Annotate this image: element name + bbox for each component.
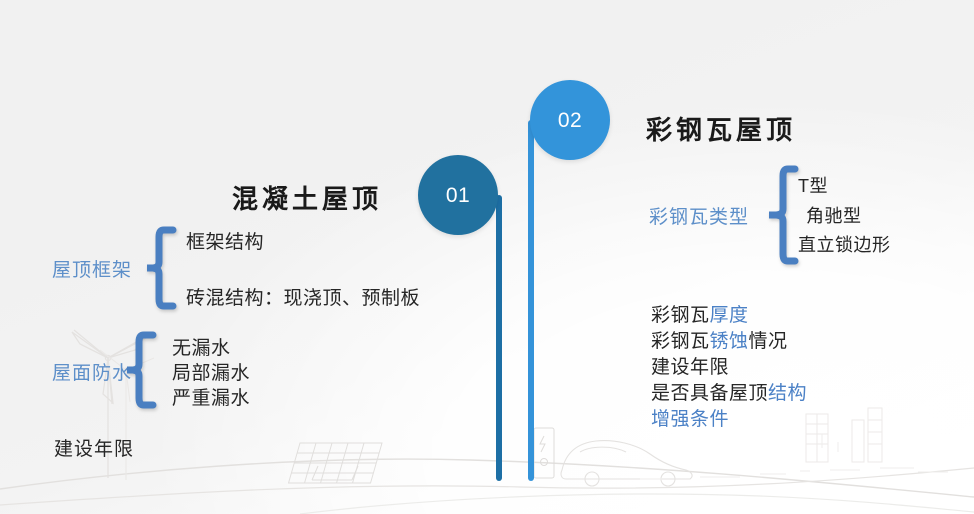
- section-heading-color-steel-roof: 彩钢瓦屋顶: [646, 110, 796, 147]
- item-t-type: T型: [798, 172, 828, 198]
- stem-line-01: [496, 195, 502, 481]
- node-number-01: 01: [446, 185, 470, 206]
- curly-brace-icon: [147, 226, 177, 310]
- list-item-roof-structure: 是否具备屋顶结构: [651, 378, 807, 405]
- node-number-02: 02: [558, 110, 582, 131]
- item-brick-concrete-structure: 砖混结构：现浇顶、预制板: [186, 283, 420, 310]
- list-text-accent: 厚度: [710, 305, 749, 326]
- item-construction-age-left: 建设年限: [54, 434, 134, 461]
- curly-brace-icon: [127, 331, 157, 409]
- list-item-reinforcement-condition: 增强条件: [651, 404, 729, 431]
- item-frame-structure: 框架结构: [186, 227, 264, 254]
- list-text-accent: 锈蚀: [710, 331, 749, 352]
- node-circle-02[interactable]: 02: [530, 80, 610, 160]
- group-label-roof-waterproofing: 屋面防水: [52, 358, 132, 385]
- item-severe-leakage: 严重漏水: [172, 383, 250, 410]
- car-icon: [561, 441, 692, 486]
- group-label-roof-frame: 屋顶框架: [52, 255, 132, 282]
- list-text-plain: 是否具备屋顶: [651, 383, 768, 404]
- list-item-corrosion: 彩钢瓦锈蚀情况: [651, 326, 788, 353]
- group-label-color-steel-type: 彩钢瓦类型: [649, 202, 749, 229]
- list-text-plain: 建设年限: [651, 357, 729, 378]
- solar-panel-icon: [289, 443, 382, 483]
- slide-canvas: 01 02 混凝土屋顶 屋顶框架 框架结构 砖混结构：现浇顶、预制板 屋面防水 …: [0, 0, 974, 514]
- curly-brace-icon: [769, 165, 799, 265]
- item-partial-leakage: 局部漏水: [172, 358, 250, 385]
- item-angle-type: 角驰型: [806, 202, 862, 228]
- ev-charging-station-icon: [534, 428, 554, 478]
- section-heading-concrete-roof: 混凝土屋顶: [232, 179, 382, 216]
- list-text-plain: 彩钢瓦: [651, 305, 710, 326]
- skyline-icon: [640, 434, 948, 479]
- list-text-accent: 结构: [768, 383, 807, 404]
- stem-line-02: [528, 120, 534, 481]
- list-item-construction-age: 建设年限: [651, 352, 729, 379]
- list-text-plain: 情况: [749, 331, 788, 352]
- list-text-accent: 增强条件: [651, 409, 729, 430]
- list-text-plain: 彩钢瓦: [651, 331, 710, 352]
- item-no-leakage: 无漏水: [172, 333, 231, 360]
- list-item-thickness: 彩钢瓦厚度: [651, 300, 749, 327]
- city-buildings-icon: [806, 408, 882, 462]
- item-standing-seam-type: 直立锁边形: [798, 231, 891, 257]
- node-circle-01[interactable]: 01: [418, 155, 498, 235]
